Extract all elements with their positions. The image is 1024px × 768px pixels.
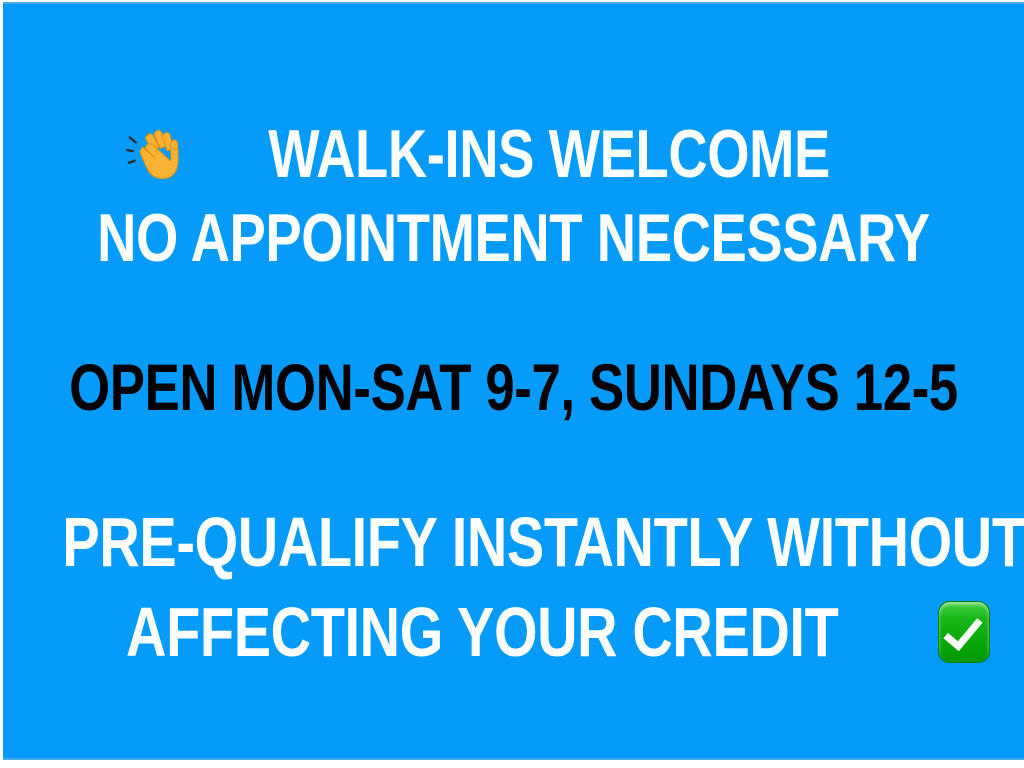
affecting-credit-line: AFFECTING YOUR CREDIT xyxy=(3,597,1024,667)
affecting-credit-text: AFFECTING YOUR CREDIT xyxy=(126,597,838,667)
store-hours-line: OPEN MON-SAT 9-7, SUNDAYS 12-5 xyxy=(3,354,1024,420)
waving-hand-icon xyxy=(126,123,188,185)
headline-appointment-text: NO APPOINTMENT NECESSARY xyxy=(97,204,930,272)
headline-welcome-text: WALK-INS WELCOME xyxy=(269,120,831,188)
check-mark-button-icon xyxy=(938,601,990,663)
prequalify-text: PRE-QUALIFY INSTANTLY WITHOUT xyxy=(63,507,1024,577)
promo-poster: WALK-INS WELCOME NO APPOINTMENT NECESSAR… xyxy=(3,2,1024,760)
headline-walk-ins-welcome: WALK-INS WELCOME xyxy=(3,120,1024,188)
headline-no-appointment: NO APPOINTMENT NECESSARY xyxy=(3,204,1024,272)
prequalify-line: PRE-QUALIFY INSTANTLY WITHOUT xyxy=(3,507,1024,577)
store-hours-text: OPEN MON-SAT 9-7, SUNDAYS 12-5 xyxy=(69,354,958,420)
slide-canvas: WALK-INS WELCOME NO APPOINTMENT NECESSAR… xyxy=(0,0,1024,768)
